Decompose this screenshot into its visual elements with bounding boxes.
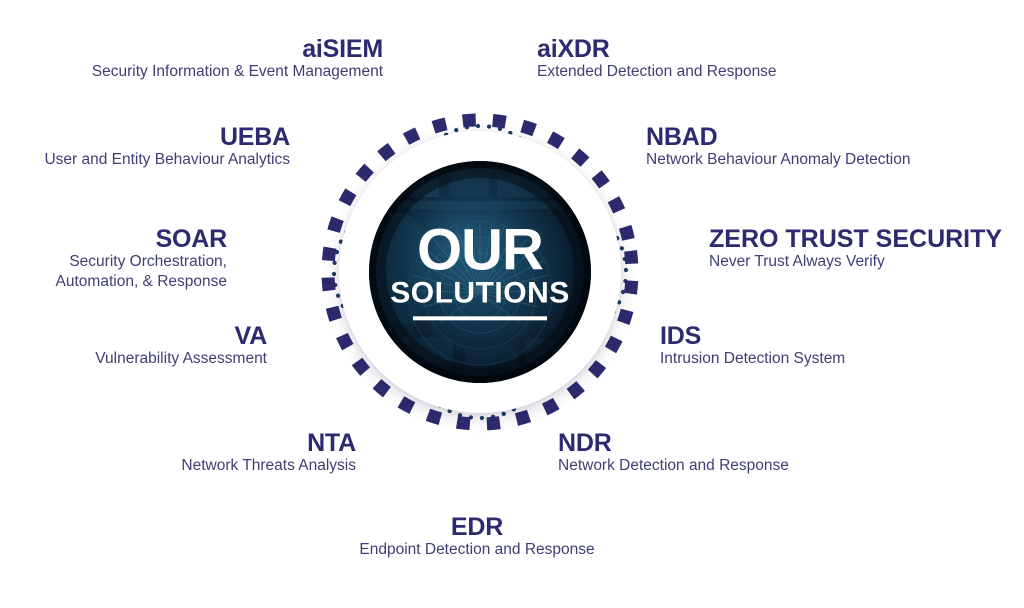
solution-edr-description: Endpoint Detection and Response — [287, 540, 667, 559]
solution-soar-acronym: SOAR — [0, 226, 227, 252]
solution-soar-description-line1: Security Orchestration, — [0, 252, 227, 271]
solution-ueba[interactable]: UEBA User and Entity Behaviour Analytics — [0, 124, 290, 170]
solution-aisiem-description: Security Information & Event Management — [0, 62, 383, 81]
solution-aixdr-description: Extended Detection and Response — [537, 62, 957, 81]
solution-ids-acronym: IDS — [660, 323, 960, 349]
solution-aixdr-acronym: aiXDR — [537, 36, 957, 62]
solution-edr[interactable]: EDR Endpoint Detection and Response — [287, 514, 667, 560]
solution-va-description: Vulnerability Assessment — [0, 349, 267, 368]
solution-nbad-description: Network Behaviour Anomaly Detection — [646, 150, 1006, 169]
solution-va-acronym: VA — [0, 323, 267, 349]
solution-nta[interactable]: NTA Network Threats Analysis — [0, 430, 356, 476]
solution-ueba-acronym: UEBA — [0, 124, 290, 150]
solution-nta-acronym: NTA — [0, 430, 356, 456]
solution-nbad-acronym: NBAD — [646, 124, 1006, 150]
solution-va[interactable]: VA Vulnerability Assessment — [0, 323, 267, 369]
solution-aixdr[interactable]: aiXDR Extended Detection and Response — [537, 36, 957, 82]
eye-image — [369, 161, 591, 383]
solution-ndr[interactable]: NDR Network Detection and Response — [558, 430, 888, 476]
solution-nta-description: Network Threats Analysis — [0, 456, 356, 475]
solution-soar[interactable]: SOAR Security Orchestration, Automation,… — [0, 226, 227, 291]
solution-zero-trust-security[interactable]: ZERO TRUST SECURITY Never Trust Always V… — [709, 226, 1009, 272]
solution-nbad[interactable]: NBAD Network Behaviour Anomaly Detection — [646, 124, 1006, 170]
solution-ndr-acronym: NDR — [558, 430, 888, 456]
solution-aisiem[interactable]: aiSIEM Security Information & Event Mana… — [0, 36, 383, 82]
solution-aisiem-acronym: aiSIEM — [0, 36, 383, 62]
solution-ids[interactable]: IDS Intrusion Detection System — [660, 323, 960, 369]
solution-ueba-description: User and Entity Behaviour Analytics — [0, 150, 290, 169]
solution-ndr-description: Network Detection and Response — [558, 456, 888, 475]
solution-zero-trust-security-description: Never Trust Always Verify — [709, 252, 1009, 271]
solution-ids-description: Intrusion Detection System — [660, 349, 960, 368]
solution-zero-trust-security-acronym: ZERO TRUST SECURITY — [709, 226, 1009, 252]
solution-edr-acronym: EDR — [287, 514, 667, 540]
solution-soar-description-line2: Automation, & Response — [0, 272, 227, 291]
solutions-diagram: OUR SOLUTIONS aiSIEM Security Informatio… — [0, 0, 1024, 608]
